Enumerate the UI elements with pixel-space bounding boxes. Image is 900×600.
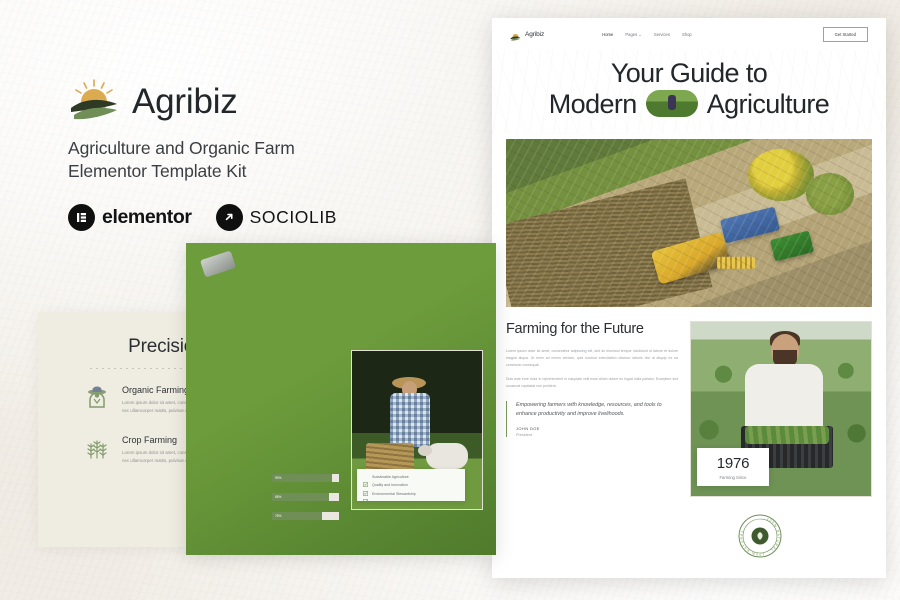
hero-title-line2: Modern Agriculture — [506, 89, 872, 120]
future-photo-column: 1976 Farming Since — [690, 321, 872, 497]
navbar-logo[interactable]: Agribiz — [510, 29, 544, 39]
skill-bar-value: 90% — [275, 476, 281, 480]
brand-name: Agribiz — [132, 84, 238, 119]
check-square-icon — [363, 483, 368, 488]
elementor-badge-label: elementor — [102, 206, 192, 229]
quote-role: President — [516, 433, 678, 437]
crop-stalks-icon — [84, 435, 110, 461]
brand-title-row: Agribiz — [68, 78, 398, 124]
sociolib-badge: SOCIOLIB — [216, 204, 337, 231]
checklist-item: Environmental Stewardship — [363, 491, 459, 496]
elementor-badge: elementor — [68, 204, 192, 231]
brand-subtitle-line2: Elementor Template Kit — [68, 160, 398, 183]
checklist-card: Sustainable Agriculture Quality and Inno… — [357, 469, 465, 501]
future-section: Farming for the Future Lorem ipsum dolor… — [492, 307, 886, 497]
about-body: A Journey Through Agriculture Lorem ipsu… — [186, 336, 496, 525]
about-us-panel: About Us A Journey Through Agriculture L… — [186, 243, 496, 555]
checklist-item: Sustainable Agriculture — [363, 474, 459, 479]
sociolib-arrow-icon — [216, 204, 243, 231]
check-square-icon — [363, 491, 368, 496]
about-photo-column: Sustainable Agriculture Quality and Inno… — [351, 350, 483, 525]
checklist-text: Sustainable Agriculture — [372, 475, 409, 479]
brand-block: Agribiz Agriculture and Organic Farm Ele… — [68, 78, 398, 231]
brand-subtitle: Agriculture and Organic Farm Elementor T… — [68, 137, 398, 184]
hero-title-text: Agriculture — [707, 89, 829, 120]
about-text-column: A Journey Through Agriculture Lorem ipsu… — [199, 350, 339, 525]
farming-since-card: 1976 Farming Since — [697, 448, 769, 486]
badge-row: elementor SOCIOLIB — [68, 204, 398, 231]
checklist-item: Quality and Innovation — [363, 483, 459, 488]
hero-title-text: Modern — [549, 89, 637, 120]
future-text-column: Farming for the Future Lorem ipsum dolor… — [506, 321, 678, 497]
nav-item-home[interactable]: Home — [602, 32, 613, 37]
hero-title-text: Your Guide to — [611, 58, 767, 89]
farmer-holding-cucumber-crate-image: 1976 Farming Since — [690, 321, 872, 497]
hero-title-line1: Your Guide to — [506, 58, 872, 89]
tractor-in-green-field-thumb — [199, 468, 263, 514]
year-number: 1976 — [701, 455, 765, 472]
brand-subtitle-line1: Agriculture and Organic Farm — [68, 137, 398, 160]
farmer-with-hay-bale-and-sheep-image: Sustainable Agriculture Quality and Inno… — [351, 350, 483, 510]
homepage-preview-panel: Agribiz Home Pages ⌄ Services Shop Get S… — [492, 18, 886, 578]
elementor-icon — [68, 204, 95, 231]
checklist-text: Environmental Stewardship — [372, 492, 416, 496]
quote-text: Empowering farmers with knowledge, resou… — [516, 401, 678, 419]
chevron-down-icon: ⌄ — [638, 32, 642, 37]
100-percent-natural-stamp-icon: 100% NATURAL · 100% NATURAL · — [738, 514, 782, 558]
navbar-menu: Home Pages ⌄ Services Shop — [602, 32, 692, 37]
future-heading: Farming for the Future — [506, 321, 678, 338]
checklist-text: Quality and Innovation — [372, 483, 408, 487]
site-navbar: Agribiz Home Pages ⌄ Services Shop Get S… — [492, 18, 886, 50]
testimonial-quote: Empowering farmers with knowledge, resou… — [506, 401, 678, 437]
farmer-hat-icon — [84, 385, 110, 411]
nav-item-pages[interactable]: Pages ⌄ — [625, 32, 642, 37]
quote-author: JOHN DOE — [516, 426, 678, 431]
agribiz-sun-field-logo-icon — [510, 29, 521, 39]
skill-bars: Livestock 90% Organic Farming 85% Crop F… — [272, 468, 339, 525]
farm-field-pill-image — [646, 90, 698, 117]
future-paragraph: Lorem ipsum dolor sit amet, consectetur … — [506, 348, 678, 369]
get-started-button[interactable]: Get Started — [823, 27, 868, 42]
nav-item-services[interactable]: Services — [654, 32, 670, 37]
future-paragraph: Duis aute irure dolor in reprehenderit i… — [506, 376, 678, 390]
about-media-row: Livestock 90% Organic Farming 85% Crop F… — [199, 468, 339, 525]
navbar-logo-text: Agribiz — [525, 31, 544, 38]
skill-bar-value: 75% — [275, 514, 281, 518]
aerial-combine-harvester-image — [506, 139, 872, 307]
skill-bar-track: 85% — [272, 493, 339, 501]
year-label: Farming Since — [701, 475, 765, 480]
nav-item-shop[interactable]: Shop — [682, 32, 692, 37]
check-square-icon — [363, 474, 368, 479]
sociolib-badge-label: SOCIOLIB — [250, 207, 337, 228]
skill-bar-value: 85% — [275, 495, 281, 499]
skill-bar-track: 75% — [272, 512, 339, 520]
agribiz-sun-field-logo-icon — [68, 78, 120, 124]
skill-bar-track: 90% — [272, 474, 339, 482]
hero-section: Your Guide to Modern Agriculture — [492, 50, 886, 133]
